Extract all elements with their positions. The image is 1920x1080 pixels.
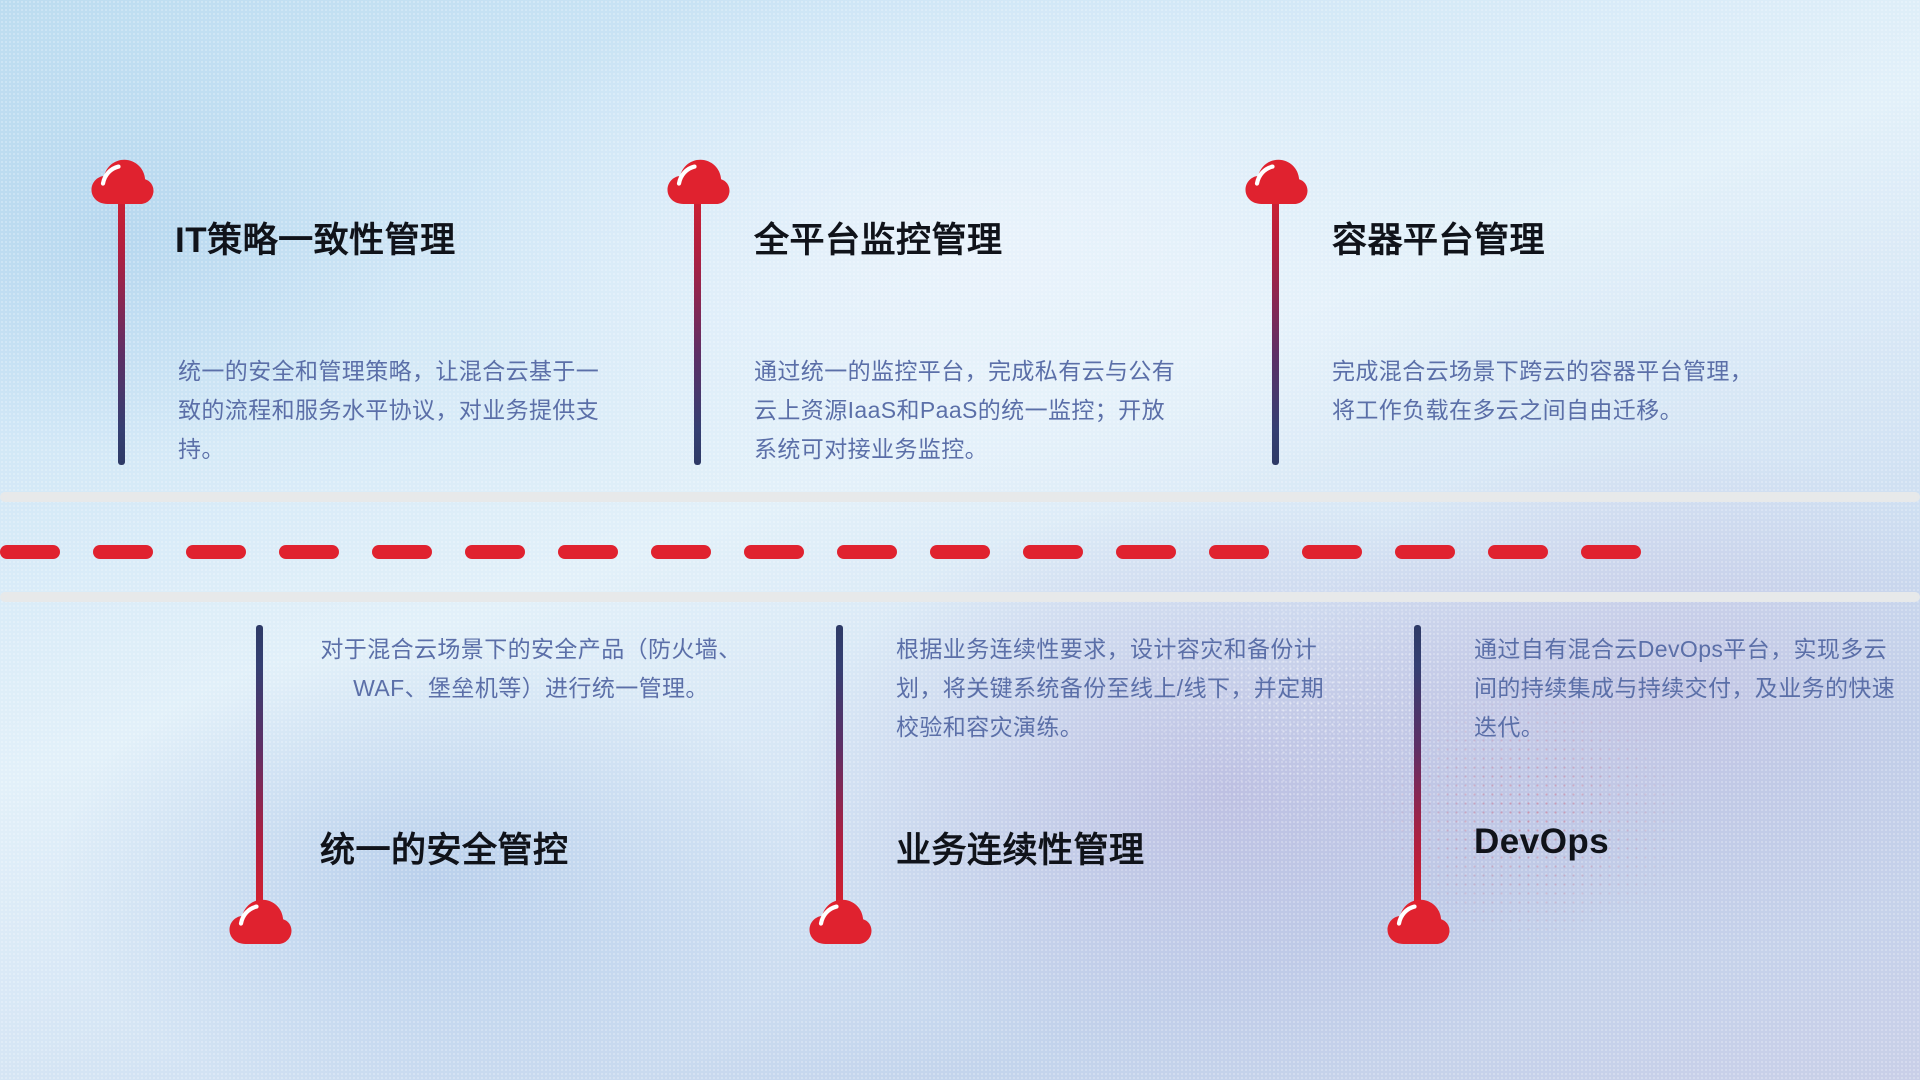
item-heading: 业务连续性管理 (896, 822, 1145, 873)
pin-stem (694, 175, 701, 465)
road-dash (279, 545, 339, 559)
pin-stem (256, 625, 263, 913)
road-dash (1581, 545, 1641, 559)
road-dash (744, 545, 804, 559)
item-heading: DevOps (1474, 822, 1609, 862)
item-body: 完成混合云场景下跨云的容器平台管理，将工作负载在多云之间自由迁移。 (1332, 352, 1762, 430)
pin-stem (836, 625, 843, 913)
cloud-icon (666, 158, 730, 206)
road-dash (1023, 545, 1083, 559)
cloud-icon (1244, 158, 1308, 206)
item-body: 根据业务连续性要求，设计容灾和备份计划，将关键系统备份至线上/线下，并定期校验和… (896, 630, 1326, 747)
road-dash (465, 545, 525, 559)
road-dash (1116, 545, 1176, 559)
pin-stem (1414, 625, 1421, 913)
road-dash (93, 545, 153, 559)
road-dash (186, 545, 246, 559)
road-dash (372, 545, 432, 559)
infographic-canvas: IT策略一致性管理 统一的安全和管理策略，让混合云基于一致的流程和服务水平协议，… (0, 0, 1920, 1080)
road-dash (930, 545, 990, 559)
item-heading: 全平台监控管理 (754, 212, 1003, 263)
cloud-icon (1386, 898, 1450, 946)
pin-stem (118, 175, 125, 465)
pin-stem (1272, 175, 1279, 465)
road-edge-top (0, 492, 1920, 502)
cloud-icon (90, 158, 154, 206)
road-dash (558, 545, 618, 559)
road-dash (651, 545, 711, 559)
item-heading: 容器平台管理 (1332, 212, 1545, 263)
road-dash (1395, 545, 1455, 559)
item-body: 通过自有混合云DevOps平台，实现多云间的持续集成与持续交付，及业务的快速迭代… (1474, 630, 1904, 747)
road-dash (1488, 545, 1548, 559)
road-center-dashes (0, 545, 1920, 559)
item-heading: IT策略一致性管理 (175, 212, 456, 263)
road-dash (1302, 545, 1362, 559)
road-dash (1209, 545, 1269, 559)
road-edge-bottom (0, 592, 1920, 602)
item-body: 对于混合云场景下的安全产品（防火墙、WAF、堡垒机等）进行统一管理。 (316, 630, 746, 708)
item-body: 统一的安全和管理策略，让混合云基于一致的流程和服务水平协议，对业务提供支持。 (178, 352, 608, 469)
cloud-icon (228, 898, 292, 946)
item-heading: 统一的安全管控 (320, 822, 569, 873)
cloud-icon (808, 898, 872, 946)
road-dash (837, 545, 897, 559)
road-dash (0, 545, 60, 559)
item-body: 通过统一的监控平台，完成私有云与公有云上资源IaaS和PaaS的统一监控；开放系… (754, 352, 1184, 469)
